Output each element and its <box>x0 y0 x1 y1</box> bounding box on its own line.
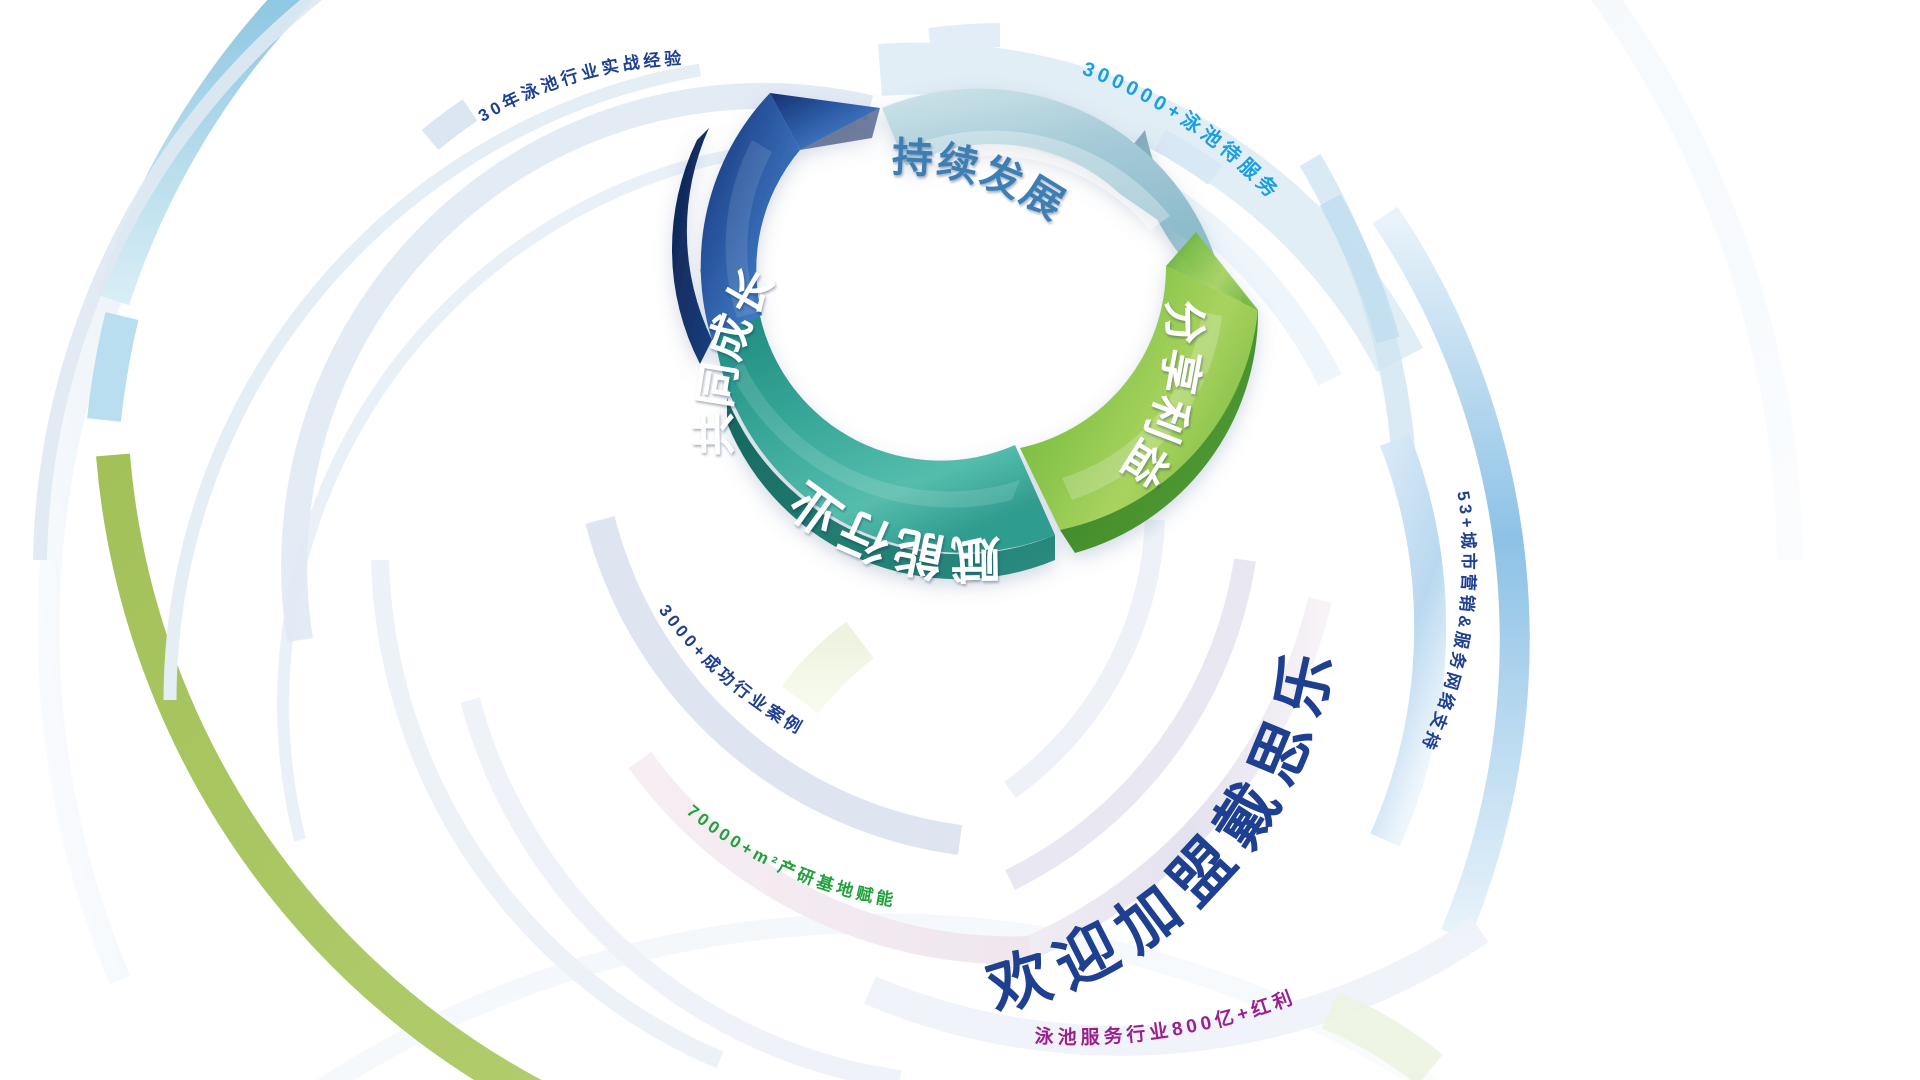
bg-tick-2 <box>930 35 1000 40</box>
bg-tick-1 <box>430 110 470 140</box>
poster-artwork: 共同成长 持续发展 分享利益 赋能行业 30年泳池行业实战经验 300000+泳… <box>0 0 1920 1080</box>
bg-arc-cyan-2 <box>113 0 300 300</box>
bg-arc-text-ring-exp <box>294 96 870 640</box>
ring-segment-share-face <box>1020 266 1258 530</box>
ring-segment-share[interactable] <box>1020 232 1258 553</box>
bg-arc-blue-right-text <box>1385 440 1430 840</box>
bg-accent-green-1 <box>800 640 860 700</box>
bg-arc-cyan <box>104 316 122 420</box>
poster-canvas: 共同成长 持续发展 分享利益 赋能行业 30年泳池行业实战经验 300000+泳… <box>0 0 1920 1080</box>
ring-segment-grow[interactable] <box>672 93 880 364</box>
